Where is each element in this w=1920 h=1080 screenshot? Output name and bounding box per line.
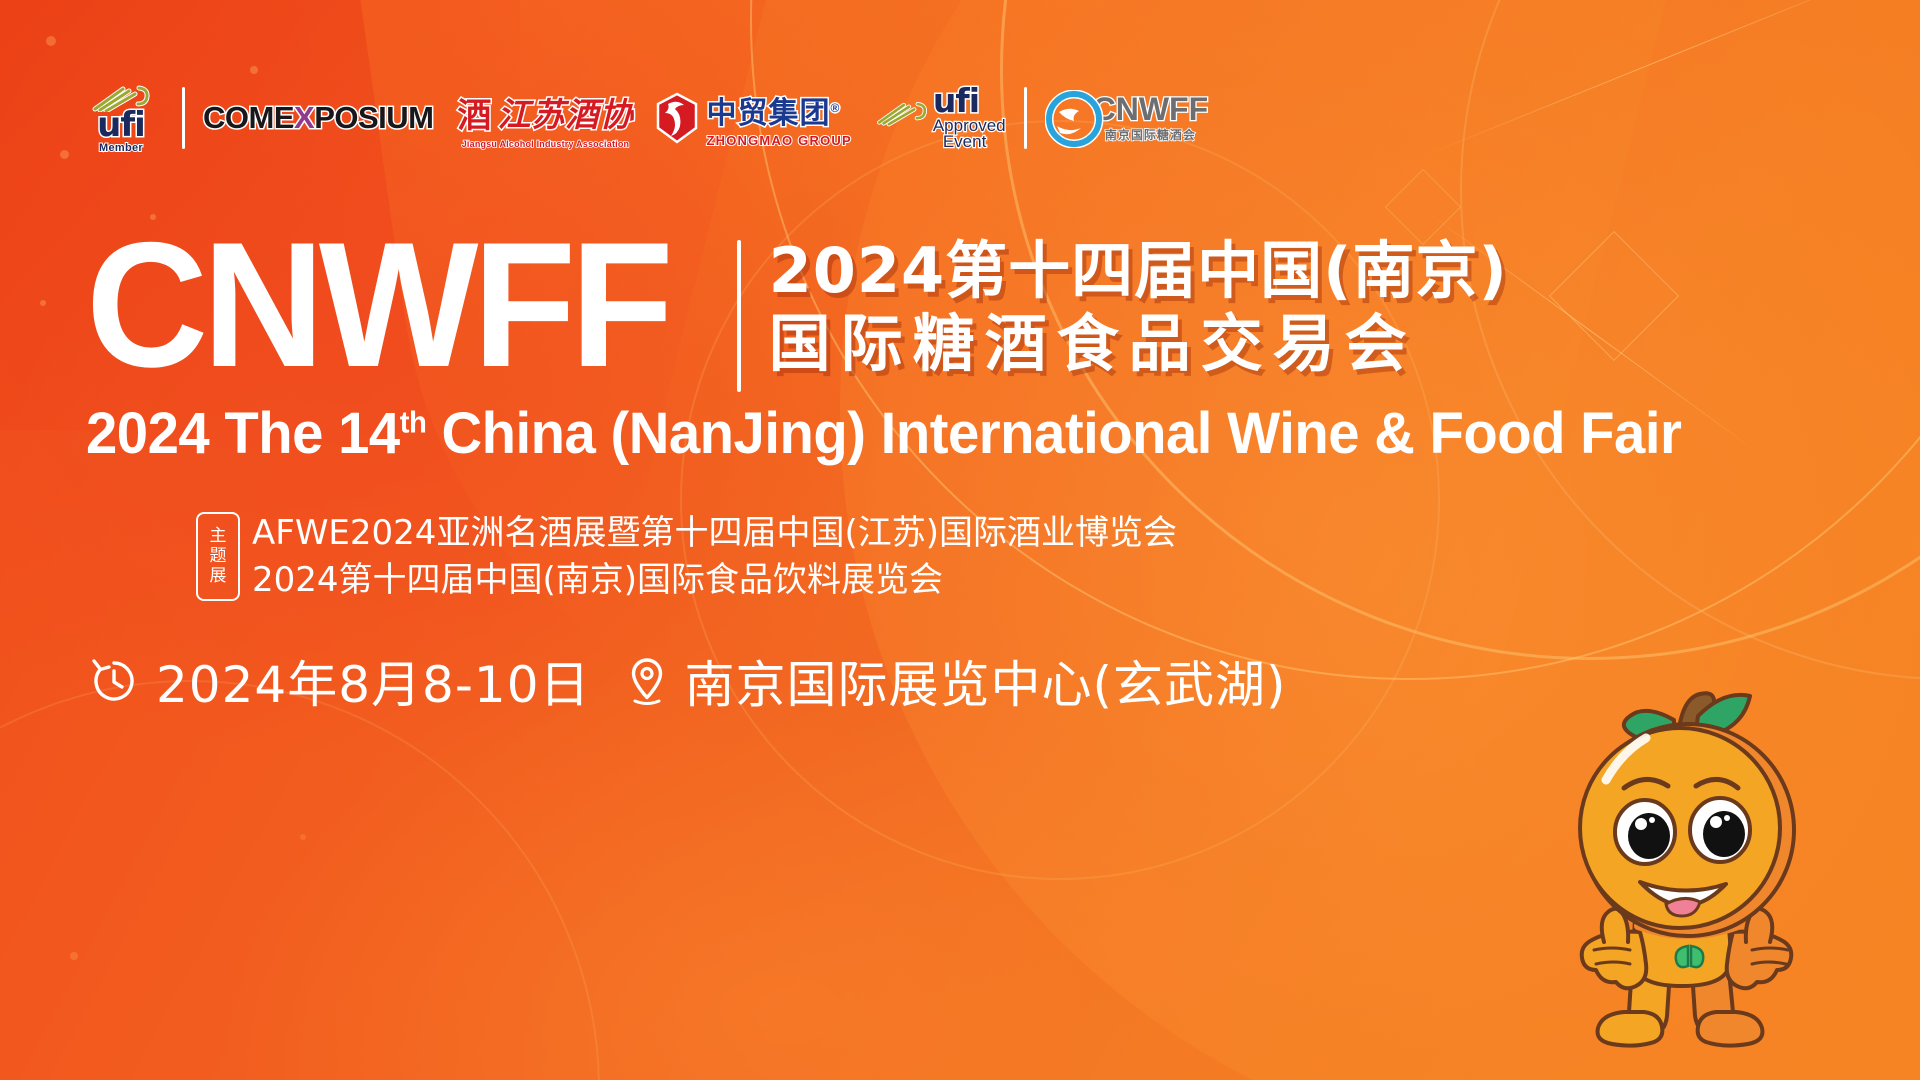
map-pin-icon xyxy=(625,655,669,707)
event-banner: ufi Member COMEXPOSIUM 酒 江苏酒协 Jiangsu Al… xyxy=(0,0,1920,1080)
ufi-event-label: Event xyxy=(943,134,1006,151)
logo-divider-2 xyxy=(1024,87,1027,149)
title-en-line: 2024 The 14th China (NanJing) Internatio… xyxy=(86,400,1681,467)
theme-line-2: 2024第十四届中国(南京)国际食品饮料展览会 xyxy=(252,559,1177,602)
title-cn-line-2: 国际糖酒食品交易会 xyxy=(769,307,1508,380)
event-location-text: 南京国际展览中心(玄武湖) xyxy=(685,645,1287,717)
bg-dot-1 xyxy=(46,36,56,46)
theme-badge: 主 题 展 xyxy=(196,512,240,601)
cnwff-logo-cn-name: 南京国际糖酒会 xyxy=(1093,126,1209,143)
orange-mascot xyxy=(1528,670,1858,1080)
ufi-approved-wing-icon xyxy=(874,97,930,127)
main-title: CNWFF 2024第十四届中国(南京) 国际糖酒食品交易会 xyxy=(86,228,1508,392)
jiangsu-en-name: Jiangsu Alcohol Industry Association xyxy=(462,139,630,149)
cnwff-logotype: CNWFF xyxy=(86,228,668,381)
comexposium-part2: POSIUM xyxy=(314,100,433,136)
zhongmao-emblem-icon xyxy=(655,92,699,144)
zhongmao-group-logo: 中贸集团® ZHONGMAO GROUP xyxy=(655,76,851,160)
event-meta: 2024年8月8-10日 南京国际展览中心(玄武湖) xyxy=(88,645,1287,717)
title-en-post: China (NanJing) International Wine & Foo… xyxy=(426,401,1681,466)
sponsor-logo-bar: ufi Member COMEXPOSIUM 酒 江苏酒协 Jiangsu Al… xyxy=(78,76,1208,160)
theme-line-1: AFWE2024亚洲名酒展暨第十四届中国(江苏)国际酒业博览会 xyxy=(252,512,1177,555)
theme-badge-char-3: 展 xyxy=(210,567,227,586)
jiangsu-association-logo: 酒 江苏酒协 Jiangsu Alcohol Industry Associat… xyxy=(457,76,633,160)
bg-dot-3 xyxy=(60,150,69,159)
comexposium-x: X xyxy=(294,100,314,136)
zhongmao-cn-name: 中贸集团® xyxy=(706,88,851,132)
cnwff-logo-wordmark: CNWFF xyxy=(1093,93,1209,125)
jiangsu-cn-name: 江苏酒协 xyxy=(497,88,633,136)
bg-dot-5 xyxy=(250,66,258,74)
registered-mark-icon: ® xyxy=(830,101,840,115)
cnwff-brand-logo: CNWFF 南京国际糖酒会 xyxy=(1045,76,1209,160)
event-location: 南京国际展览中心(玄武湖) xyxy=(625,645,1287,717)
bg-dot-7 xyxy=(70,952,78,960)
logo-divider-1 xyxy=(182,87,185,149)
event-date-text: 2024年8月8-10日 xyxy=(156,645,591,717)
title-en-pre: 2024 The 14 xyxy=(86,401,400,466)
title-separator xyxy=(737,240,741,392)
ufi-member-label: Member xyxy=(99,142,143,154)
jiangsu-seal-glyph: 酒 xyxy=(457,88,491,137)
cnwff-globe-icon xyxy=(1045,90,1101,146)
event-date: 2024年8月8-10日 xyxy=(88,645,591,717)
ufi-wordmark: ufi xyxy=(97,110,145,141)
theme-badge-char-2: 题 xyxy=(210,547,227,566)
ufi-member-logo: ufi Member xyxy=(78,76,164,160)
title-cn-line-1: 2024第十四届中国(南京) xyxy=(769,234,1508,307)
bg-dot-8 xyxy=(300,834,306,840)
clock-icon xyxy=(88,655,140,707)
bg-dot-6 xyxy=(40,300,46,306)
ufi-wing-icon xyxy=(89,82,153,112)
theme-exhibitions: 主 题 展 AFWE2024亚洲名酒展暨第十四届中国(江苏)国际酒业博览会 20… xyxy=(196,512,1177,601)
zhongmao-en-name: ZHONGMAO GROUP xyxy=(706,133,851,148)
title-en-ordinal: th xyxy=(400,407,427,440)
ufi-approved-event-logo: ufi Approved Event xyxy=(874,76,1006,160)
comexposium-logo: COMEXPOSIUM xyxy=(203,76,433,160)
ufi-approved-wordmark: ufi xyxy=(933,85,1006,117)
theme-badge-char-1: 主 xyxy=(210,527,227,546)
comexposium-part1: COME xyxy=(203,100,294,136)
